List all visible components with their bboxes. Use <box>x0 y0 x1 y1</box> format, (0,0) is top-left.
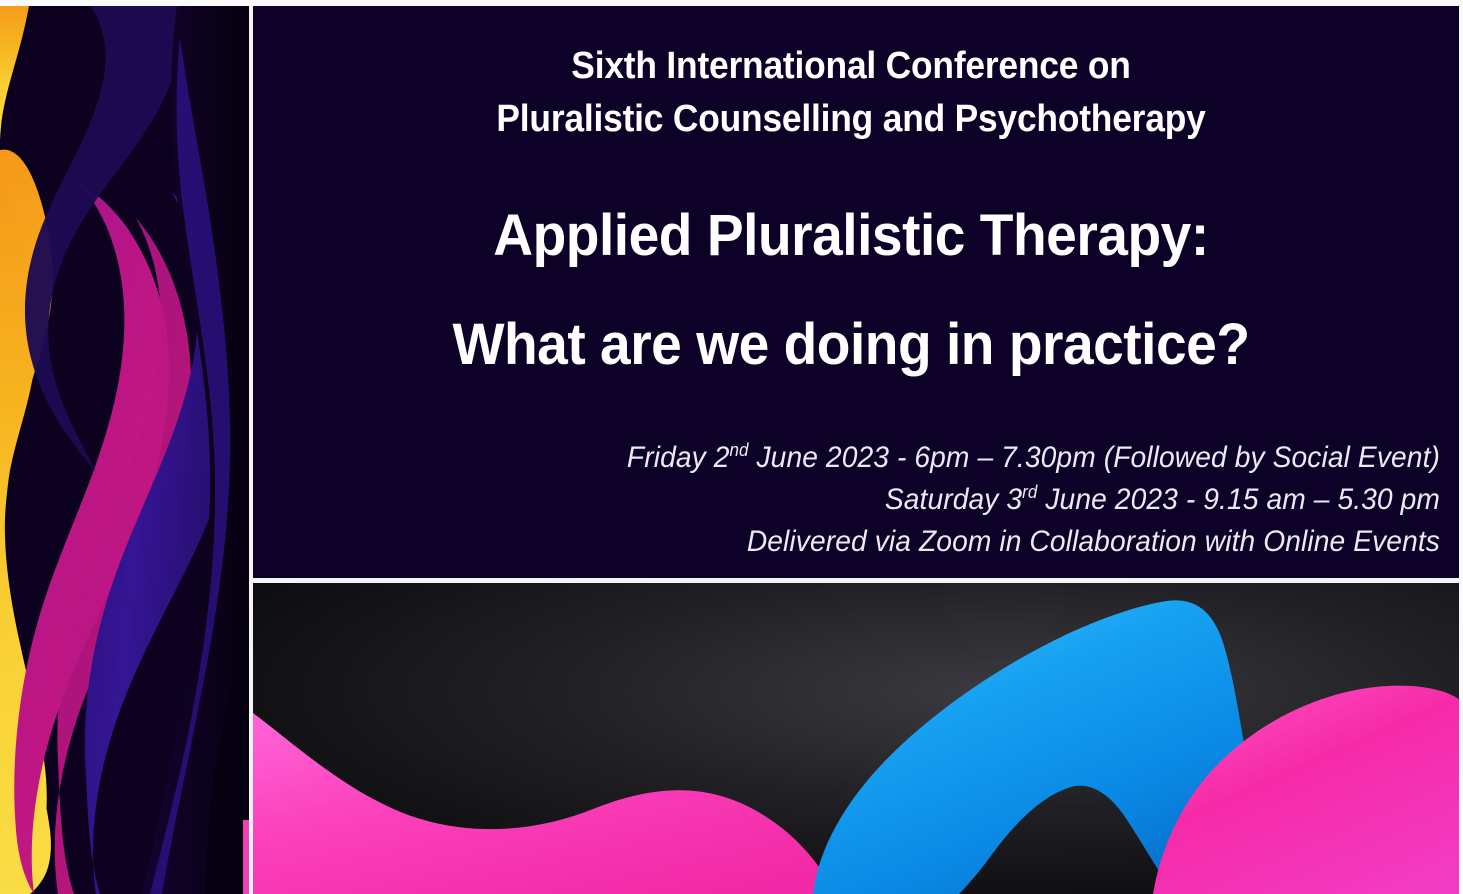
right-border <box>1459 0 1463 894</box>
detail-line-saturday: Saturday 3rd June 2023 - 9.15 am – 5.30 … <box>627 479 1440 521</box>
friday-prefix: Friday 2 <box>627 441 730 474</box>
saturday-suffix: June 2023 - 9.15 am – 5.30 pm <box>1037 483 1440 516</box>
friday-suffix: June 2023 - 6pm – 7.30pm (Followed by So… <box>749 441 1440 474</box>
vertical-divider <box>249 0 253 894</box>
conference-slide: Sixth International Conference on Plural… <box>0 0 1463 894</box>
event-details: Friday 2nd June 2023 - 6pm – 7.30pm (Fol… <box>575 437 1440 563</box>
main-title: Applied Pluralistic Therapy: What are we… <box>253 200 1449 381</box>
heading-line-2: Pluralistic Counselling and Psychotherap… <box>295 93 1407 146</box>
conference-heading: Sixth International Conference on Plural… <box>253 40 1449 146</box>
detail-line-delivery: Delivered via Zoom in Collaboration with… <box>627 521 1440 563</box>
friday-ordinal: nd <box>730 440 749 460</box>
heading-line-1: Sixth International Conference on <box>295 40 1407 93</box>
bottom-wave-artwork <box>253 583 1463 894</box>
horizontal-divider <box>253 578 1463 583</box>
title-line-1: Applied Pluralistic Therapy: <box>283 200 1419 272</box>
saturday-ordinal: rd <box>1022 482 1037 502</box>
detail-line-friday: Friday 2nd June 2023 - 6pm – 7.30pm (Fol… <box>627 437 1440 479</box>
title-line-2: What are we doing in practice? <box>283 309 1419 381</box>
saturday-prefix: Saturday 3 <box>885 483 1022 516</box>
top-border <box>0 0 1463 6</box>
left-wave-artwork <box>0 0 249 894</box>
title-panel: Sixth International Conference on Plural… <box>253 0 1463 578</box>
